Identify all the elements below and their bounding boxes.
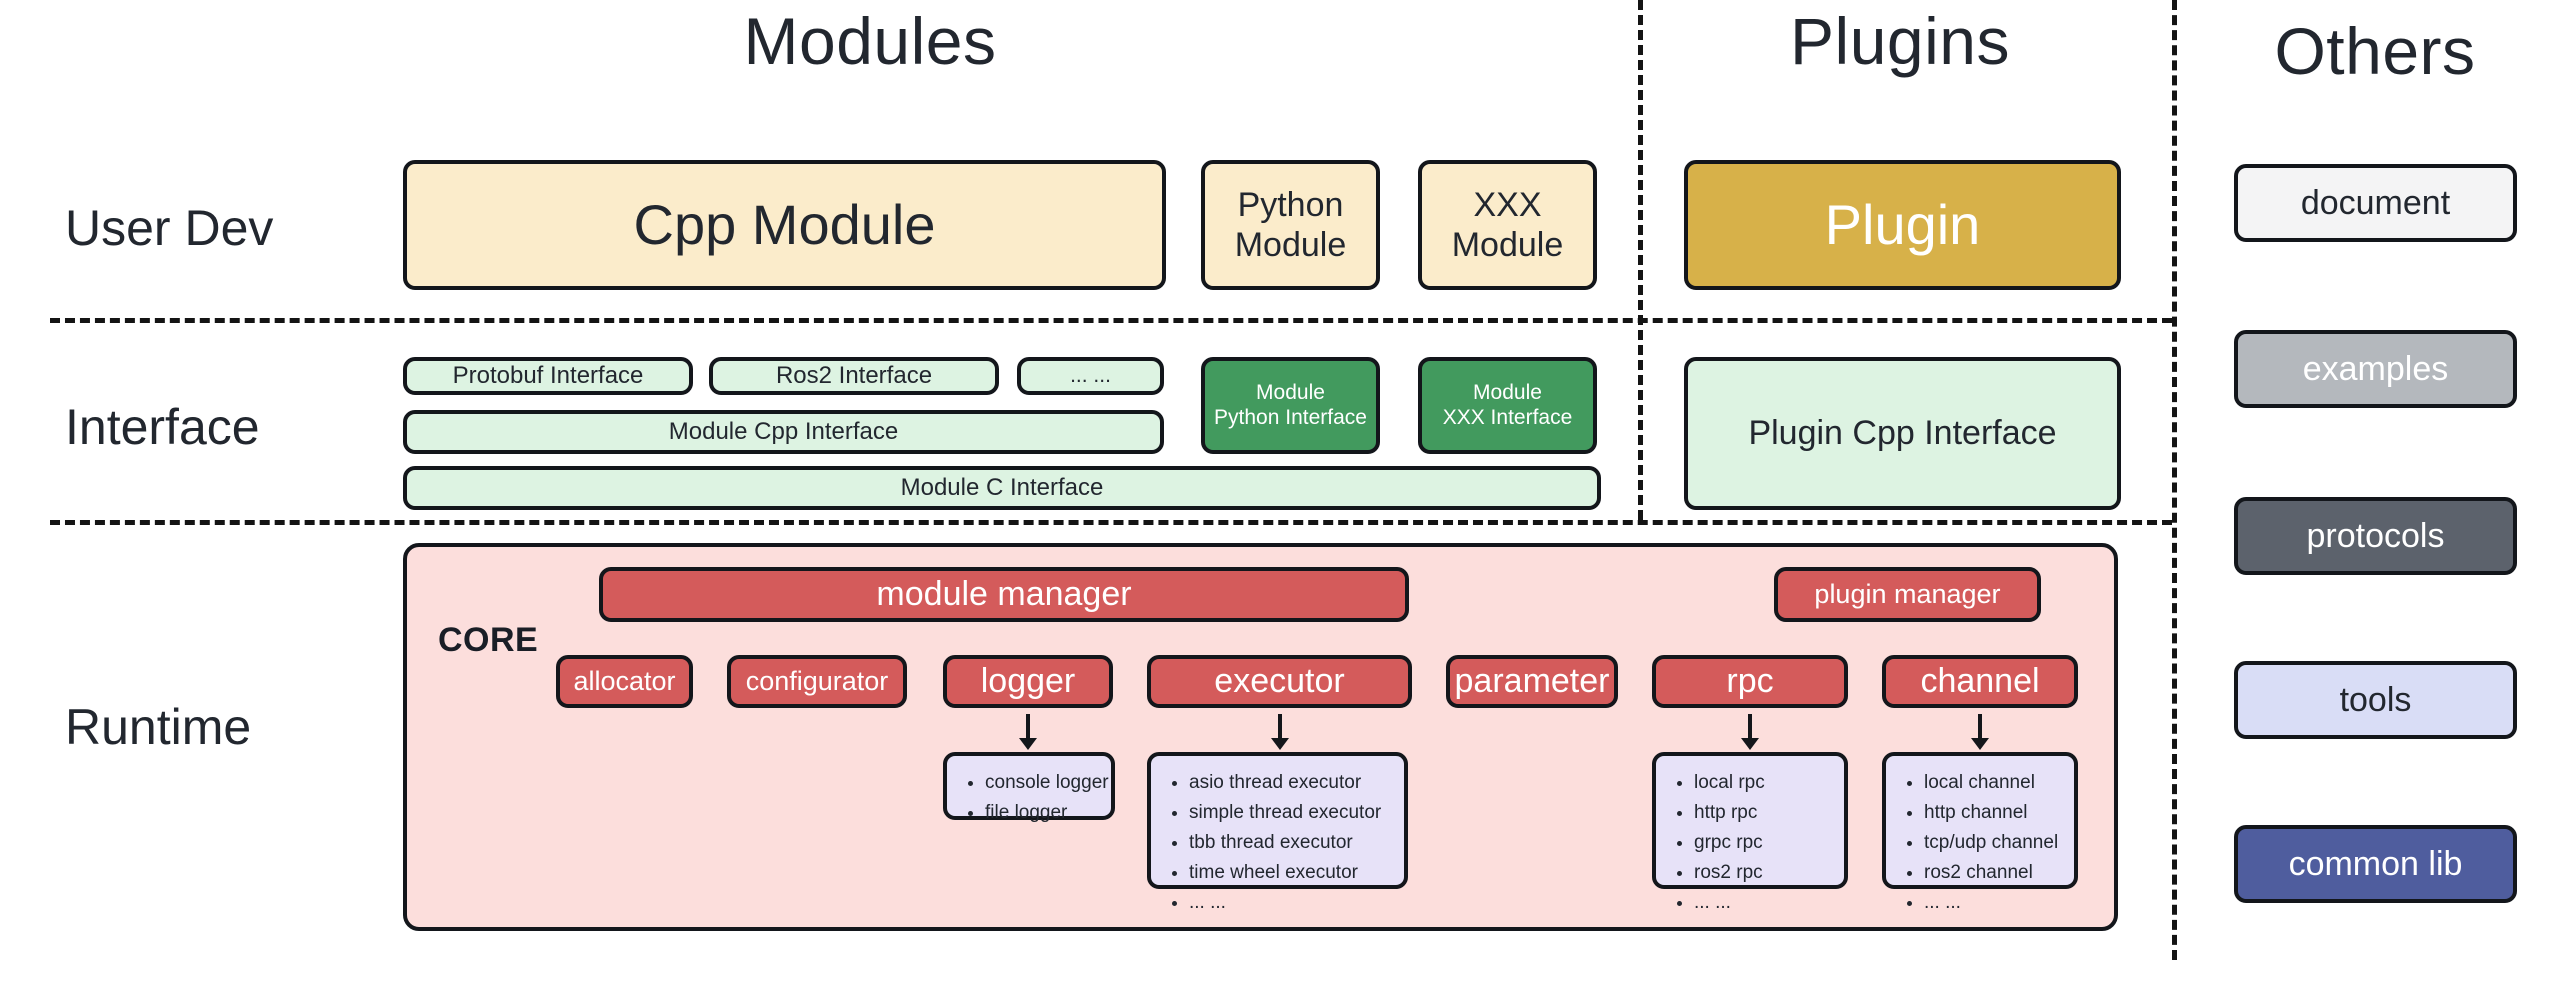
- module-xxx-interface-label-line2: XXX Interface: [1443, 406, 1573, 431]
- arrow-channel-down: [1967, 712, 1993, 752]
- list-item: ... ...: [1694, 888, 1834, 918]
- executor-details-list: asio thread executorsimple thread execut…: [1147, 752, 1408, 889]
- divider-modules-plugins: [1638, 0, 1643, 520]
- column-title-modules: Modules: [530, 8, 1210, 74]
- divider-plugins-others: [2172, 0, 2177, 960]
- list-item: ros2 rpc: [1694, 858, 1834, 888]
- cpp-module-box[interactable]: Cpp Module: [403, 160, 1166, 290]
- rpc-box[interactable]: rpc: [1652, 655, 1848, 708]
- logger-item-list: console loggerfile logger: [959, 768, 1101, 828]
- row-label-user-dev: User Dev: [65, 203, 273, 253]
- list-item: local rpc: [1694, 768, 1834, 798]
- list-item: http channel: [1924, 798, 2064, 828]
- logger-details-list: console loggerfile logger: [943, 752, 1115, 820]
- logger-box[interactable]: logger: [943, 655, 1113, 708]
- allocator-box[interactable]: allocator: [556, 655, 693, 708]
- others-item-protocols[interactable]: protocols: [2234, 497, 2517, 575]
- architecture-diagram: Modules Plugins Others User Dev Interfac…: [0, 0, 2560, 984]
- column-title-others: Others: [2210, 18, 2540, 84]
- module-python-interface-box[interactable]: Module Python Interface: [1201, 357, 1380, 454]
- module-xxx-interface-box[interactable]: Module XXX Interface: [1418, 357, 1597, 454]
- row-label-interface: Interface: [65, 402, 260, 452]
- list-item: ros2 channel: [1924, 858, 2064, 888]
- list-item: http rpc: [1694, 798, 1834, 828]
- others-item-document[interactable]: document: [2234, 164, 2517, 242]
- arrow-rpc-down: [1737, 712, 1763, 752]
- python-module-box[interactable]: Python Module: [1201, 160, 1380, 290]
- list-item: simple thread executor: [1189, 798, 1394, 828]
- xxx-module-box[interactable]: XXX Module: [1418, 160, 1597, 290]
- channel-item-list: local channelhttp channeltcp/udp channel…: [1898, 768, 2064, 918]
- core-label: CORE: [438, 623, 538, 657]
- rpc-item-list: local rpchttp rpcgrpc rpcros2 rpc... ...: [1668, 768, 1834, 918]
- ros2-interface-box[interactable]: Ros2 Interface: [709, 357, 999, 395]
- module-manager-box[interactable]: module manager: [599, 567, 1409, 622]
- protobuf-interface-box[interactable]: Protobuf Interface: [403, 357, 693, 395]
- list-item: file logger: [985, 798, 1101, 828]
- others-item-tools[interactable]: tools: [2234, 661, 2517, 739]
- rpc-details-list: local rpchttp rpcgrpc rpcros2 rpc... ...: [1652, 752, 1848, 889]
- module-c-interface-box[interactable]: Module C Interface: [403, 466, 1601, 510]
- divider-interface-runtime: [50, 520, 2172, 525]
- list-item: asio thread executor: [1189, 768, 1394, 798]
- python-module-label-line1: Python: [1238, 185, 1344, 225]
- configurator-box[interactable]: configurator: [727, 655, 907, 708]
- list-item: grpc rpc: [1694, 828, 1834, 858]
- module-xxx-interface-label-line1: Module: [1473, 381, 1542, 406]
- channel-details-list: local channelhttp channeltcp/udp channel…: [1882, 752, 2078, 889]
- plugin-box[interactable]: Plugin: [1684, 160, 2121, 290]
- divider-userdev-interface: [50, 318, 2172, 323]
- list-item: local channel: [1924, 768, 2064, 798]
- list-item: time wheel executor: [1189, 858, 1394, 888]
- parameter-box[interactable]: parameter: [1446, 655, 1618, 708]
- xxx-module-label-line2: Module: [1452, 225, 1564, 265]
- column-title-plugins: Plugins: [1680, 8, 2120, 74]
- list-item: ... ...: [1924, 888, 2064, 918]
- list-item: ... ...: [1189, 888, 1394, 918]
- module-python-interface-label-line2: Python Interface: [1214, 406, 1367, 431]
- arrow-executor-down: [1267, 712, 1293, 752]
- module-cpp-interface-box[interactable]: Module Cpp Interface: [403, 410, 1164, 454]
- executor-item-list: asio thread executorsimple thread execut…: [1163, 768, 1394, 918]
- list-item: console logger: [985, 768, 1101, 798]
- executor-box[interactable]: executor: [1147, 655, 1412, 708]
- module-python-interface-label-line1: Module: [1256, 381, 1325, 406]
- python-module-label-line2: Module: [1235, 225, 1347, 265]
- xxx-module-label-line1: XXX: [1473, 185, 1541, 225]
- row-label-runtime: Runtime: [65, 702, 251, 752]
- channel-box[interactable]: channel: [1882, 655, 2078, 708]
- plugin-cpp-interface-box[interactable]: Plugin Cpp Interface: [1684, 357, 2121, 510]
- list-item: tbb thread executor: [1189, 828, 1394, 858]
- ellipsis-interface-box[interactable]: ... ...: [1017, 357, 1164, 395]
- others-item-common-lib[interactable]: common lib: [2234, 825, 2517, 903]
- others-item-examples[interactable]: examples: [2234, 330, 2517, 408]
- arrow-logger-down: [1015, 712, 1041, 752]
- list-item: tcp/udp channel: [1924, 828, 2064, 858]
- plugin-manager-box[interactable]: plugin manager: [1774, 567, 2041, 622]
